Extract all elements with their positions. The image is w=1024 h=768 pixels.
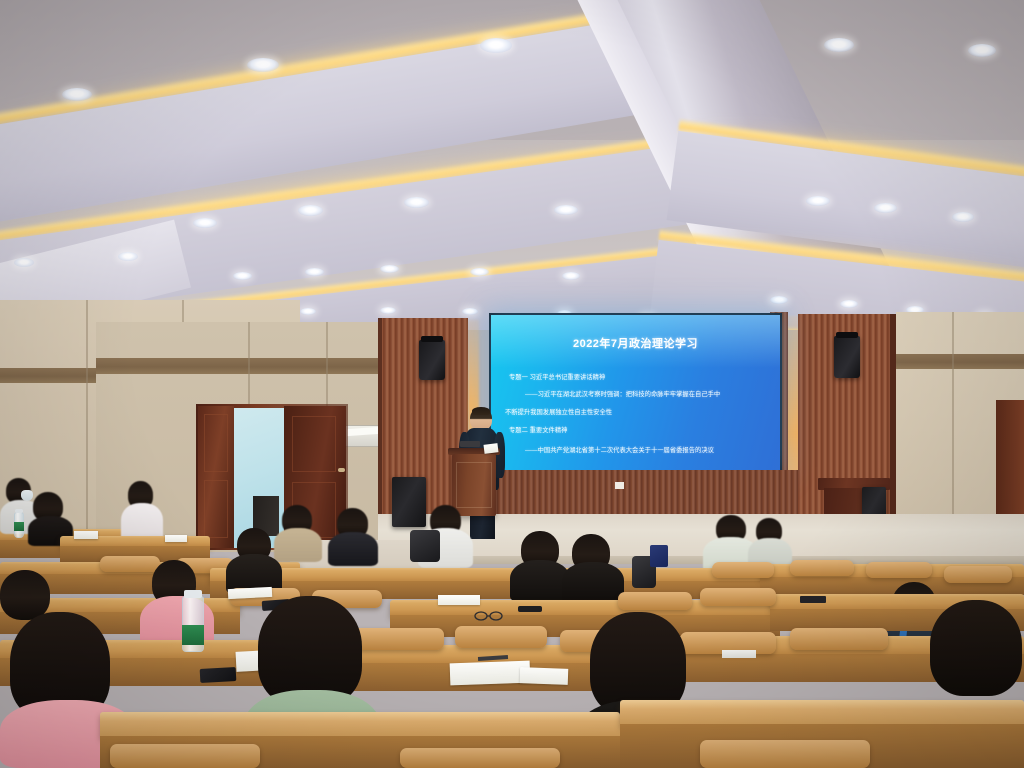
downlight <box>298 205 323 216</box>
chair[interactable] <box>790 628 888 650</box>
attendee-body <box>328 532 378 566</box>
downlight <box>233 272 252 280</box>
chair[interactable] <box>100 556 160 572</box>
eyeglasses-icon <box>474 608 504 618</box>
backpack <box>410 530 440 562</box>
wall-seam <box>86 300 88 540</box>
wall-speaker <box>419 340 445 380</box>
downlight <box>952 212 974 222</box>
downlight <box>824 38 854 52</box>
slide-line-3: 不断提升我国发展独立性自主性安全性 <box>505 407 612 416</box>
chair-foreground[interactable] <box>700 740 870 768</box>
ceiling <box>0 0 1024 330</box>
slide-line-1: 专题一 习近平总书记重要讲话精神 <box>509 372 605 381</box>
lecture-hall-photo: 2022年7月政治理论学习 专题一 习近平总书记重要讲话精神 ——习近平在湖北武… <box>0 0 1024 768</box>
projection-screen: 2022年7月政治理论学习 专题一 习近平总书记重要讲话精神 ——习近平在湖北武… <box>491 315 780 470</box>
chair[interactable] <box>455 626 547 648</box>
downlight <box>968 44 996 57</box>
bottle-cap <box>15 509 23 513</box>
podium-panel-detail <box>456 462 492 508</box>
wall-under-screen <box>468 470 798 516</box>
slide-title: 2022年7月政治理论学习 <box>491 335 780 351</box>
wall-speaker-mount-right <box>836 332 858 338</box>
smartphone <box>200 667 237 683</box>
downlight <box>14 258 34 267</box>
podium-microphone-base <box>460 441 480 447</box>
door-panel-detail <box>292 416 336 472</box>
bottle-label <box>14 522 24 531</box>
downlight <box>380 265 399 273</box>
downlight <box>305 268 324 276</box>
downlight <box>300 308 316 315</box>
desk-row-f <box>100 712 620 738</box>
pen-case <box>518 606 542 612</box>
downlight <box>118 252 138 261</box>
chair[interactable] <box>700 588 776 606</box>
chair-foreground[interactable] <box>110 744 260 768</box>
door-panel-detail <box>204 414 228 472</box>
desk-row-f-right <box>620 700 1024 726</box>
downlight <box>462 308 478 315</box>
downlight <box>193 218 217 228</box>
downlight <box>62 88 92 101</box>
chair[interactable] <box>712 562 774 578</box>
chair[interactable] <box>352 628 444 650</box>
downlight <box>247 58 279 72</box>
bag-blue <box>650 545 668 567</box>
wall-outlet <box>615 482 624 489</box>
wall-right-accent-band <box>896 354 1024 369</box>
attendee-body <box>562 562 624 604</box>
downlight <box>806 196 830 206</box>
presenter-hair <box>472 407 490 415</box>
chair-foreground[interactable] <box>400 748 560 768</box>
wall-speaker-mount <box>421 336 443 342</box>
wall-speaker-right <box>834 336 860 378</box>
notebook <box>438 595 480 605</box>
downlight <box>874 203 897 213</box>
downlight <box>470 268 489 276</box>
chair[interactable] <box>618 592 692 610</box>
notebook <box>165 535 187 542</box>
downlight <box>770 296 788 304</box>
bottle-cap <box>184 590 202 598</box>
door-panel-detail <box>204 480 228 538</box>
downlight <box>404 197 429 208</box>
notebook <box>74 531 98 539</box>
chair[interactable] <box>790 560 854 576</box>
smartphone <box>800 596 826 603</box>
door-handle-icon[interactable] <box>338 468 345 472</box>
bottle-label <box>182 625 204 645</box>
attendee-head-foreground <box>930 600 1022 696</box>
chair[interactable] <box>866 562 932 578</box>
attendee-body <box>274 528 322 562</box>
slide-line-4: 专题二 重要文件精神 <box>509 425 567 434</box>
floor-speaker-left <box>392 477 426 527</box>
wall-center-accent-band <box>96 358 386 374</box>
downlight <box>380 307 396 314</box>
paper-sheet <box>520 667 569 685</box>
podium-notes <box>484 443 499 454</box>
slide-line-5: ——中国共产党湖北省第十二次代表大会关于十一届省委报告的决议 <box>525 445 714 454</box>
downlight <box>840 300 858 308</box>
downlight <box>562 272 580 280</box>
downlight <box>480 38 512 53</box>
chair[interactable] <box>944 566 1012 583</box>
slide-line-2: ——习近平在湖北武汉考察时强调：把科技的命脉牢牢掌握在自己手中 <box>525 389 720 398</box>
tablet <box>722 650 756 658</box>
downlight <box>554 205 578 215</box>
attendee-body <box>510 560 570 602</box>
notebook <box>450 661 531 686</box>
attendee-head <box>0 570 50 620</box>
